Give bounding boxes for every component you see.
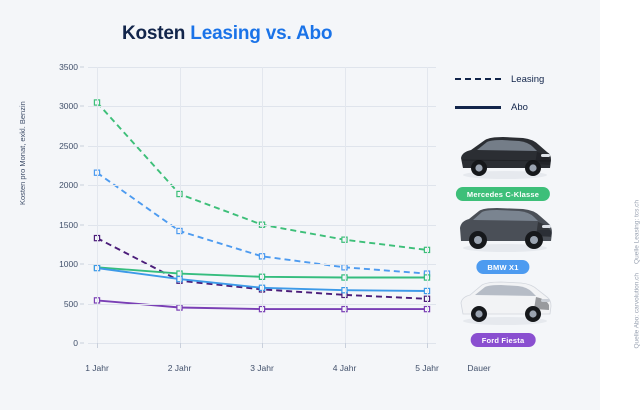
source-leasing: Quelle Leasing: tcs.ch xyxy=(634,200,640,264)
x-tick-label: 2 Jahr xyxy=(168,363,192,373)
legend-item-abo[interactable]: Abo xyxy=(455,101,544,113)
vertical-gridline xyxy=(262,67,263,343)
car-list: Mercedes C-Klasse BMW X1 Ford Fiesta xyxy=(449,130,561,349)
y-tick-mark xyxy=(80,106,84,107)
x-tick-mark xyxy=(427,343,428,348)
y-tick-label: 3500 xyxy=(59,62,78,72)
x-tick-mark xyxy=(262,343,263,348)
vertical-gridline xyxy=(345,67,346,343)
y-tick-label: 2000 xyxy=(59,180,78,190)
y-tick-mark xyxy=(80,145,84,146)
vertical-gridline xyxy=(427,67,428,343)
y-tick-label: 1500 xyxy=(59,220,78,230)
plot-area xyxy=(88,67,436,343)
title-part-blue: Leasing vs. Abo xyxy=(190,23,332,44)
legend-line-swatch xyxy=(455,74,501,84)
vertical-gridline xyxy=(180,67,181,343)
y-tick-mark xyxy=(80,224,84,225)
y-tick-mark xyxy=(80,67,84,68)
car-card[interactable]: Ford Fiesta xyxy=(449,276,557,347)
y-tick-label: 1000 xyxy=(59,259,78,269)
legend-line-swatch xyxy=(455,102,501,112)
y-axis-title: Kosten pro Monat, exkl. Benzin xyxy=(18,101,27,205)
x-tick-mark xyxy=(180,343,181,348)
y-tick-mark xyxy=(80,185,84,186)
x-tick-mark xyxy=(97,343,98,348)
title-part-dark: Kosten xyxy=(122,23,185,44)
x-tick-label: 3 Jahr xyxy=(250,363,274,373)
x-tick-label: 5 Jahr xyxy=(415,363,439,373)
car-badge: BMW X1 xyxy=(476,260,529,274)
legend-item-label: Abo xyxy=(511,102,528,113)
page-title: Kosten Leasing vs. Abo xyxy=(122,23,332,45)
legend-item-leasing[interactable]: Leasing xyxy=(455,73,544,85)
car-photo xyxy=(449,130,557,184)
car-badge: Mercedes C-Klasse xyxy=(456,187,550,201)
car-card[interactable]: Mercedes C-Klasse xyxy=(449,130,557,201)
car-photo xyxy=(449,203,557,257)
source-abo: Quelle Abo: carvolution.ch xyxy=(634,273,640,349)
source-credits: Quelle Abo: carvolution.ch Quelle Leasin… xyxy=(634,200,640,349)
chart-page: Kosten Leasing vs. Abo 05001000150020002… xyxy=(0,0,640,410)
x-tick-mark xyxy=(345,343,346,348)
x-tick-label: 4 Jahr xyxy=(333,363,357,373)
y-tick-mark xyxy=(80,303,84,304)
x-axis-title: Dauer xyxy=(467,363,490,373)
x-tick-label: 1 Jahr xyxy=(85,363,109,373)
y-tick-label: 3000 xyxy=(59,101,78,111)
legend-item-label: Leasing xyxy=(511,74,544,85)
chart-legend: LeasingAbo xyxy=(455,73,544,129)
vertical-gridline xyxy=(97,67,98,343)
car-card[interactable]: BMW X1 xyxy=(449,203,557,274)
y-tick-mark xyxy=(80,264,84,265)
y-tick-label: 2500 xyxy=(59,141,78,151)
y-axis-labels: 0500100015002000250030003500 xyxy=(0,67,84,343)
car-photo xyxy=(449,276,557,330)
y-tick-label: 500 xyxy=(64,299,78,309)
car-badge: Ford Fiesta xyxy=(471,333,536,347)
